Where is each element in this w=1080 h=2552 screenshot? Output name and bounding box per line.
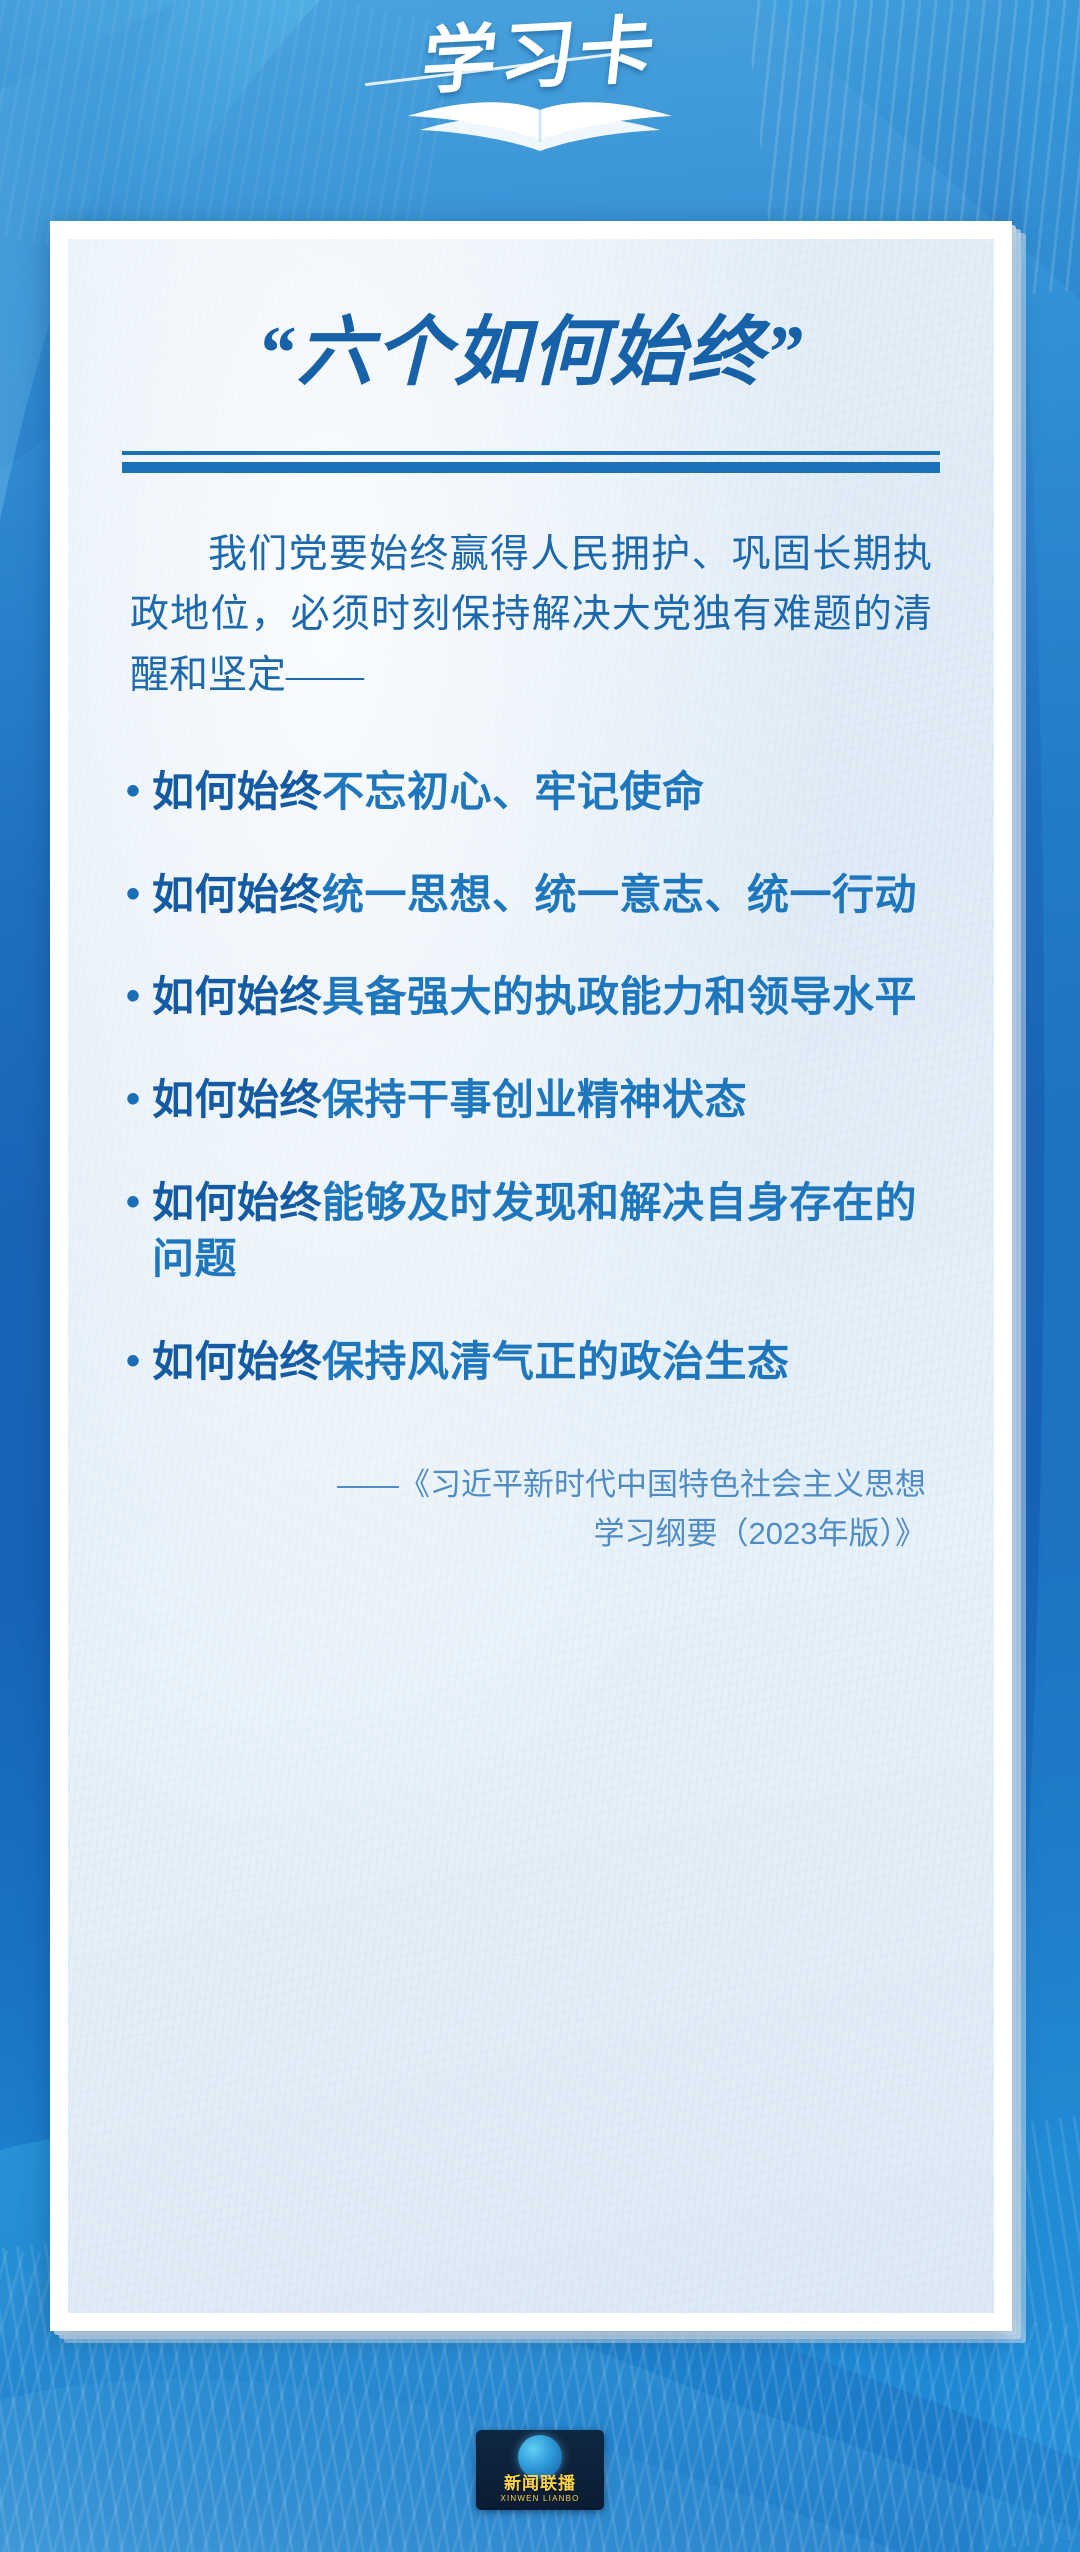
header: 学习卡 <box>0 0 1080 215</box>
globe-icon <box>518 2435 562 2479</box>
xinwen-lianbo-badge[interactable]: 新闻联播 XINWEN LIANBO <box>476 2430 604 2510</box>
intro-paragraph: 我们党要始终赢得人民拥护、巩固长期执政地位，必须时刻保持解决大党独有难题的清醒和… <box>122 525 940 706</box>
list-item: • 如何始终保持风清气正的政治生态 <box>126 1334 936 1391</box>
page-title: “六个如何始终” <box>122 309 940 399</box>
bullet-rest: 保持风清气正的政治生态 <box>322 1338 790 1385</box>
bullet-text: 如何始终保持风清气正的政治生态 <box>152 1334 936 1391</box>
source-attribution: ——《习近平新时代中国特色社会主义思想 学习纲要（2023年版）》 <box>122 1461 940 1559</box>
bullet-dot-icon: • <box>126 764 152 818</box>
attribution-line-1: ——《习近平新时代中国特色社会主义思想 <box>122 1461 926 1510</box>
bullet-rest: 不忘初心、牢记使命 <box>322 768 705 815</box>
bullet-dot-icon: • <box>126 867 152 921</box>
bullet-text: 如何始终保持干事创业精神状态 <box>152 1072 936 1129</box>
bullet-rest: 保持干事创业精神状态 <box>322 1076 747 1123</box>
bullet-lead: 如何始终 <box>152 1076 322 1123</box>
bullet-text: 如何始终能够及时发现和解决自身存在的问题 <box>152 1175 936 1288</box>
bullet-dot-icon: • <box>126 1072 152 1126</box>
bullet-rest: 统一思想、统一意志、统一行动 <box>322 871 917 918</box>
attribution-line-2: 学习纲要（2023年版）》 <box>122 1510 926 1559</box>
bullet-lead: 如何始终 <box>152 871 322 918</box>
bullet-lead: 如何始终 <box>152 1338 322 1385</box>
bullet-lead: 如何始终 <box>152 973 322 1020</box>
badge-title-cn: 新闻联播 <box>504 2475 576 2492</box>
divider-thick-line <box>122 462 940 473</box>
bullet-dot-icon: • <box>126 1334 152 1388</box>
footer: 新闻联播 XINWEN LIANBO <box>0 2347 1080 2552</box>
bullet-dot-icon: • <box>126 1175 152 1229</box>
open-book-icon <box>390 92 690 154</box>
bullet-text: 如何始终统一思想、统一意志、统一行动 <box>152 867 936 924</box>
bullet-dot-icon: • <box>126 969 152 1023</box>
list-item: • 如何始终统一思想、统一意志、统一行动 <box>126 867 936 924</box>
bullet-text: 如何始终具备强大的执政能力和领导水平 <box>152 969 936 1026</box>
card-paper-surface: “六个如何始终” 我们党要始终赢得人民拥护、巩固长期执政地位，必须时刻保持解决大… <box>68 239 994 2313</box>
list-item: • 如何始终不忘初心、牢记使命 <box>126 764 936 821</box>
divider-gap <box>122 455 940 462</box>
bullet-text: 如何始终不忘初心、牢记使命 <box>152 764 936 821</box>
brand-logo-text: 学习卡 <box>418 14 661 100</box>
bullet-rest: 具备强大的执政能力和领导水平 <box>322 973 917 1020</box>
list-item: • 如何始终具备强大的执政能力和领导水平 <box>126 969 936 1026</box>
list-item: • 如何始终保持干事创业精神状态 <box>126 1072 936 1129</box>
card-body: “六个如何始终” 我们党要始终赢得人民拥护、巩固长期执政地位，必须时刻保持解决大… <box>68 239 994 2313</box>
content-card: “六个如何始终” 我们党要始终赢得人民拥护、巩固长期执政地位，必须时刻保持解决大… <box>50 221 1012 2331</box>
badge-title-en: XINWEN LIANBO <box>500 2495 579 2503</box>
brand-logo[interactable]: 学习卡 <box>370 16 710 146</box>
card-stack: “六个如何始终” 我们党要始终赢得人民拥护、巩固长期执政地位，必须时刻保持解决大… <box>50 221 1030 2347</box>
title-divider <box>122 451 940 473</box>
bullet-lead: 如何始终 <box>152 768 322 815</box>
list-item: • 如何始终能够及时发现和解决自身存在的问题 <box>126 1175 936 1288</box>
bullet-list: • 如何始终不忘初心、牢记使命 • 如何始终统一思想、统一意志、统一行动 • 如… <box>122 764 940 1391</box>
bullet-lead: 如何始终 <box>152 1179 322 1226</box>
